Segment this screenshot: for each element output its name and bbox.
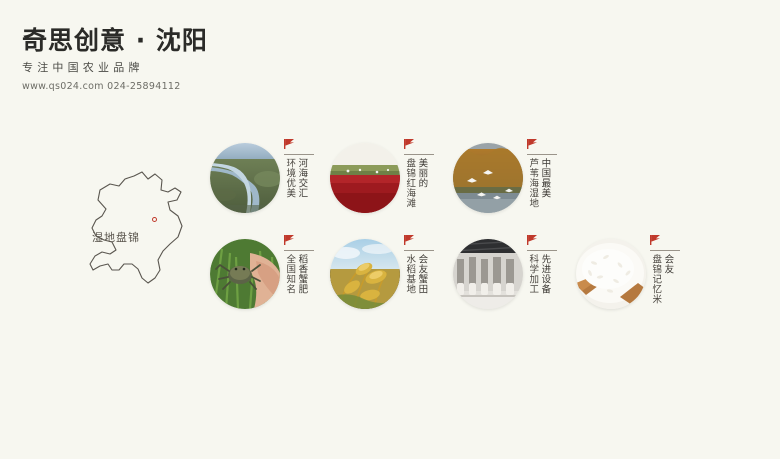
white-rice-grains-photo (576, 239, 646, 309)
flag-icon (650, 235, 661, 245)
feature-caption: 先进设备 科学加工 (527, 235, 573, 321)
feature-line1: 美丽的 (416, 158, 427, 222)
feature-line2: 全国知名 (284, 254, 295, 318)
feature-line1: 河海交汇 (296, 158, 307, 222)
map-outline-icon (62, 152, 202, 302)
feature-line1: 会友蟹田 (416, 254, 427, 318)
feature-item[interactable]: 河海交汇 环境优美 (210, 135, 332, 230)
flag-icon (284, 235, 295, 245)
feature-item[interactable]: 稻香蟹肥 全国知名 (210, 231, 332, 326)
feature-line2: 盘锦红海滩 (404, 158, 415, 222)
caption-rule (650, 250, 680, 251)
red-beach-photo (330, 143, 400, 213)
hand-holding-crab-photo (210, 239, 280, 309)
caption-rule (404, 154, 434, 155)
feature-item[interactable]: 会友蟹田 水稻基地 (330, 231, 452, 326)
river-delta-aerial-photo (210, 143, 280, 213)
feature-item[interactable]: 会友 盘锦记忆米 (576, 231, 698, 326)
feature-caption: 会友 盘锦记忆米 (650, 235, 696, 321)
caption-rule (284, 250, 314, 251)
caption-rule (527, 154, 557, 155)
reed-wetland-birds-photo (453, 143, 523, 213)
city-marker-dot (152, 217, 157, 222)
feature-item[interactable]: 美丽的 盘锦红海滩 (330, 135, 452, 230)
caption-rule (404, 250, 434, 251)
feature-line1: 稻香蟹肥 (296, 254, 307, 318)
flag-icon (404, 139, 415, 149)
feature-line1: 先进设备 (539, 254, 550, 318)
brand-subtitle: 专注中国农业品牌 (22, 59, 208, 75)
map-region-label: 湿地盘锦 (92, 229, 140, 245)
feature-line2: 环境优美 (284, 158, 295, 222)
flag-icon (284, 139, 295, 149)
golden-rice-ears-photo (330, 239, 400, 309)
feature-caption: 稻香蟹肥 全国知名 (284, 235, 330, 321)
feature-item[interactable]: 先进设备 科学加工 (453, 231, 575, 326)
feature-line2: 盘锦记忆米 (650, 254, 661, 318)
feature-grid: 河海交汇 环境优美 (210, 135, 770, 335)
feature-caption: 河海交汇 环境优美 (284, 139, 330, 225)
feature-line2: 水稻基地 (404, 254, 415, 318)
feature-line1: 中国最美 (539, 158, 550, 222)
flag-icon (527, 139, 538, 149)
feature-line2: 科学加工 (527, 254, 538, 318)
brand-contact-line: www.qs024.com 024-25894112 (22, 81, 208, 92)
caption-rule (527, 250, 557, 251)
feature-caption: 中国最美 芦苇海湿地 (527, 139, 573, 225)
brand-title: 奇思创意 · 沈阳 (22, 28, 208, 54)
feature-line1: 会友 (662, 254, 673, 318)
rice-processing-factory-photo (453, 239, 523, 309)
feature-line2: 芦苇海湿地 (527, 158, 538, 222)
flag-icon (527, 235, 538, 245)
brand-header: 奇思创意 · 沈阳 专注中国农业品牌 www.qs024.com 024-258… (22, 28, 208, 92)
caption-rule (284, 154, 314, 155)
flag-icon (404, 235, 415, 245)
feature-caption: 会友蟹田 水稻基地 (404, 235, 450, 321)
feature-caption: 美丽的 盘锦红海滩 (404, 139, 450, 225)
feature-item[interactable]: 中国最美 芦苇海湿地 (453, 135, 575, 230)
panjin-map: 湿地盘锦 (62, 152, 202, 302)
